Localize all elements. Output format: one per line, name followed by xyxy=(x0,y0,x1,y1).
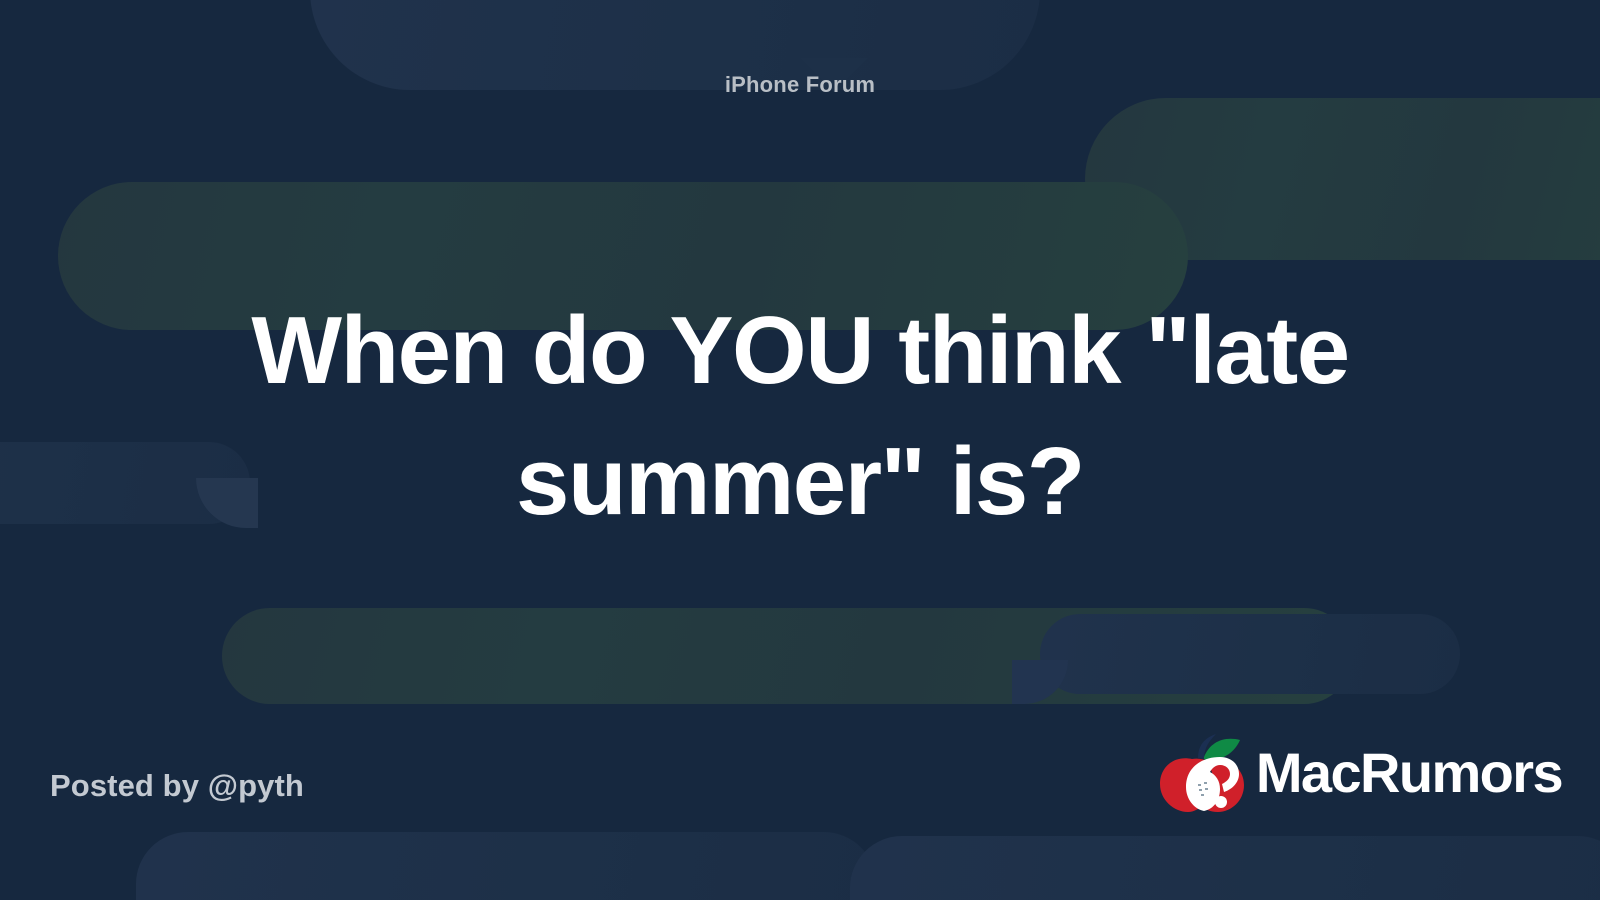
macrumors-logo: MacRumors xyxy=(1154,732,1562,814)
background-bar-bottom-right xyxy=(850,836,1600,900)
page-title: When do YOU think "late summer" is? xyxy=(0,286,1600,547)
forum-label: iPhone Forum xyxy=(0,72,1600,98)
social-share-card: iPhone Forum When do YOU think "late sum… xyxy=(0,0,1600,900)
macrumors-wordmark: MacRumors xyxy=(1256,745,1562,801)
macrumors-apple-logo-icon xyxy=(1154,732,1250,814)
background-bar-bottom-left xyxy=(136,832,876,900)
background-bubble-bottom-right xyxy=(1040,614,1460,694)
posted-by-byline: Posted by @pyth xyxy=(50,768,304,804)
